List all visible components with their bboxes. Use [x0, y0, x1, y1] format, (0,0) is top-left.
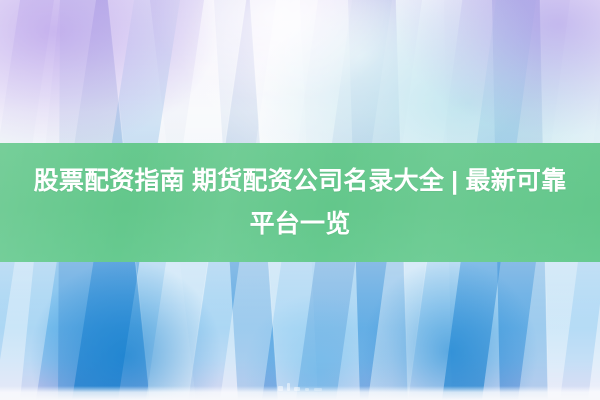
- promo-banner: 股票配资指南 期货配资公司名录大全 | 最新可靠 平台一览: [0, 0, 600, 400]
- speck-4: [305, 388, 309, 391]
- speck-2: [287, 383, 290, 391]
- bottom-speck-marks: [278, 382, 324, 391]
- banner-title: 股票配资指南 期货配资公司名录大全 | 最新可靠 平台一览: [8, 160, 592, 246]
- speck-5: [314, 388, 322, 391]
- title-band: 股票配资指南 期货配资公司名录大全 | 最新可靠 平台一览: [0, 143, 600, 262]
- speck-1: [278, 386, 283, 391]
- speck-3: [294, 387, 300, 391]
